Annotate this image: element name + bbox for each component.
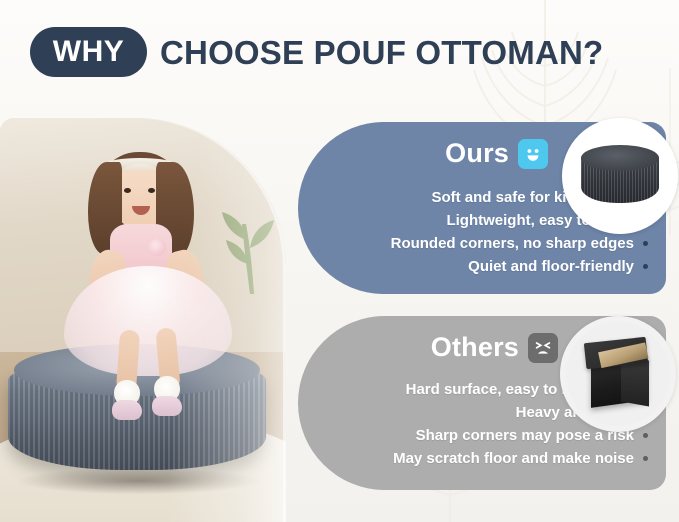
round-pouf-top <box>581 145 659 171</box>
photo-edge-fade <box>0 118 286 522</box>
infographic-canvas: WHY CHOOSE POUF OTTOMAN? <box>0 0 679 522</box>
ours-bullet-text: Rounded corners, no sharp edges <box>391 235 634 252</box>
photo-scene <box>0 118 286 522</box>
others-title: Others <box>431 332 519 363</box>
why-badge-label: WHY <box>53 37 125 67</box>
why-badge: WHY <box>30 27 147 77</box>
page-title: CHOOSE POUF OTTOMAN? <box>160 28 603 78</box>
list-item: Quiet and floor-friendly <box>391 255 648 278</box>
ours-title: Ours <box>445 138 509 169</box>
square-storage-box-illustration <box>577 338 659 410</box>
page-header: WHY CHOOSE POUF OTTOMAN? <box>0 0 679 104</box>
ours-bullet-text: Quiet and floor-friendly <box>468 258 634 275</box>
ours-title-row: Ours <box>445 138 548 169</box>
lifestyle-photo <box>0 118 286 522</box>
product-thumbnail-others <box>560 316 676 432</box>
bullet-dot-icon <box>643 264 648 269</box>
others-title-row: Others <box>431 332 558 363</box>
bullet-dot-icon <box>643 456 648 461</box>
bullet-dot-icon <box>643 241 648 246</box>
list-item: Rounded corners, no sharp edges <box>391 232 648 255</box>
product-thumbnail-ours-art <box>568 124 672 228</box>
unhappy-face-icon <box>528 333 558 363</box>
others-bullet-text: May scratch floor and make noise <box>393 450 634 467</box>
happy-face-icon <box>518 139 548 169</box>
round-pouf-illustration <box>581 145 659 207</box>
product-thumbnail-ours <box>562 118 678 234</box>
bullet-dot-icon <box>643 433 648 438</box>
list-item: May scratch floor and make noise <box>393 447 648 470</box>
product-thumbnail-others-art <box>566 322 670 426</box>
